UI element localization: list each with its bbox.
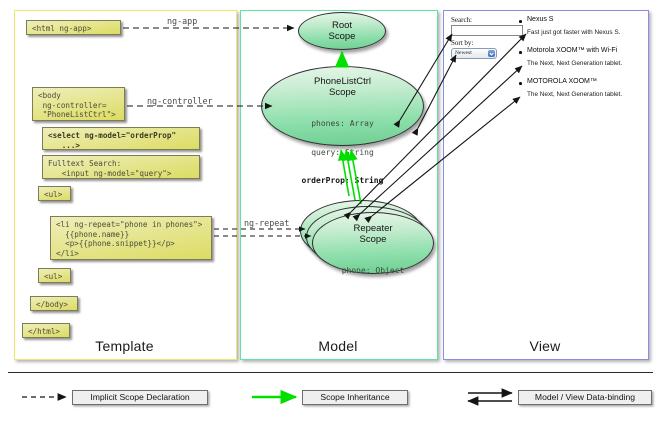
phone-name: Nexus S	[527, 16, 553, 23]
body-tag-box: <body ng-controller= "PhoneListCtrl">	[32, 87, 125, 121]
column-title-model: Model	[240, 338, 436, 354]
phone-name: MOTOROLA XOOM™	[527, 78, 597, 85]
phone-snippet: Fast just got faster with Nexus S.	[527, 29, 620, 36]
select-box: <select ng-model="orderProp" ...>	[42, 127, 200, 150]
phonelistctrl-scope-title-line2: Scope	[262, 87, 423, 98]
column-title-template: Template	[14, 338, 235, 354]
search-input-box: Fulltext Search: <input ng-model="query"…	[42, 155, 200, 179]
html-close-box: </html>	[22, 323, 70, 338]
root-scope-title-line1: Root	[299, 20, 385, 31]
column-title-view: View	[443, 338, 647, 354]
legend-divider	[8, 372, 653, 373]
edge-label-ng-app: ng-app	[167, 16, 197, 26]
phone-snippet: The Next, Next Generation tablet.	[527, 91, 622, 98]
repeater-scope-props: phone: Object	[313, 247, 433, 295]
phonelistctrl-scope-title-line1: PhoneListCtrl	[262, 76, 423, 87]
phone-name: Motorola XOOM™ with Wi-Fi	[527, 47, 617, 54]
view-sort-label: Sort by:	[451, 39, 473, 47]
view-browser-mock: Search: Sort by: Newest Nexus S Fast jus…	[451, 16, 639, 120]
phone-snippet: The Next, Next Generation tablet.	[527, 60, 622, 67]
ul-close-box: <ul>	[38, 268, 71, 283]
view-search-label: Search:	[451, 16, 472, 24]
root-scope-ellipse: Root Scope	[298, 12, 386, 50]
legend-data-binding: Model / View Data-binding	[518, 390, 652, 405]
prop-phone: phone: Object	[313, 266, 433, 276]
li-repeat-box: <li ng-repeat="phone in phones"> {{phone…	[50, 216, 212, 260]
bullet-icon	[519, 20, 522, 23]
body-close-box: </body>	[30, 296, 78, 311]
repeater-scope-title-line1: Repeater	[313, 223, 433, 234]
root-scope-title-line2: Scope	[299, 31, 385, 42]
prop-phones: phones: Array	[262, 119, 423, 129]
html-tag-box: <html ng-app>	[26, 20, 121, 35]
diagram-canvas: Template Model View <html ng-app> <body …	[0, 0, 661, 425]
view-sort-select[interactable]: Newest	[451, 48, 497, 59]
phonelistctrl-scope-props: phones: Array query: String orderProp: S…	[262, 100, 423, 205]
repeater-scope-ellipse: Repeater Scope phone: Object	[312, 212, 434, 274]
legend-implicit-scope-declaration: Implicit Scope Declaration	[72, 390, 208, 405]
view-search-input[interactable]	[451, 25, 523, 36]
chevron-down-icon	[488, 50, 495, 57]
legend-scope-inheritance: Scope Inheritance	[302, 390, 408, 405]
view-sort-selected-value: Newest	[455, 50, 472, 56]
bullet-icon	[519, 82, 522, 85]
bullet-icon	[519, 51, 522, 54]
prop-orderprop: orderProp: String	[262, 176, 423, 186]
ul-open-box: <ul>	[38, 186, 71, 201]
phonelistctrl-scope-ellipse: PhoneListCtrl Scope phones: Array query:…	[261, 66, 424, 146]
edge-label-ng-repeat: ng-repeat	[244, 218, 289, 228]
prop-query: query: String	[262, 148, 423, 158]
repeater-scope-title-line2: Scope	[313, 234, 433, 245]
edge-label-ng-controller: ng-controller	[147, 96, 213, 106]
